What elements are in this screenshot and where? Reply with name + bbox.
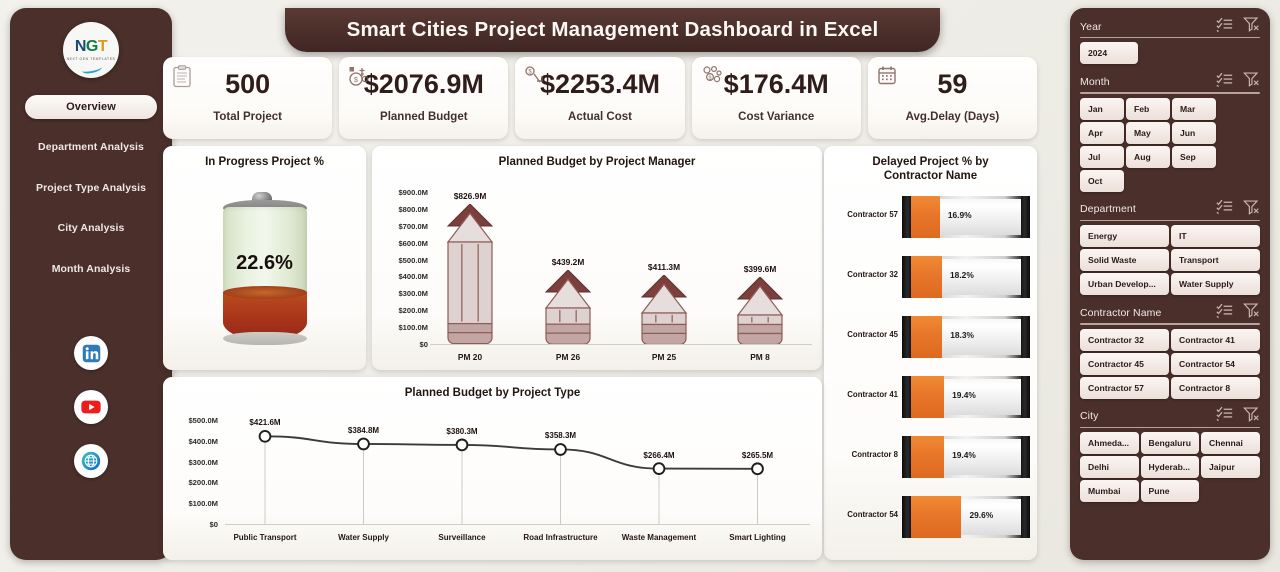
slicer-title: Contractor Name bbox=[1080, 307, 1216, 319]
slicer-divider bbox=[1080, 92, 1260, 93]
slicer-year: Year2024 bbox=[1080, 18, 1260, 64]
x-axis-category: Water Supply bbox=[309, 533, 419, 542]
slicer-divider bbox=[1080, 37, 1260, 38]
bar-right-cap bbox=[1021, 256, 1030, 298]
slicer-divider bbox=[1080, 427, 1260, 428]
bar-right-cap bbox=[1021, 496, 1030, 538]
slicer-items: EnergyITSolid WasteTransportUrban Develo… bbox=[1080, 225, 1260, 295]
variance-icon: $ bbox=[701, 65, 723, 89]
x-axis-category: Waste Management bbox=[604, 533, 714, 542]
logo-n: N bbox=[75, 38, 86, 55]
bar-data-label: 19.4% bbox=[952, 450, 976, 460]
bar-data-label: $411.3M bbox=[624, 262, 704, 272]
kpi-card-actual-cost: $ $2253.4M Actual Cost bbox=[515, 57, 684, 139]
slicer-item[interactable]: Contractor 57 bbox=[1080, 377, 1169, 399]
clear-filter-icon bbox=[1243, 302, 1260, 318]
slicer-contractor-name: Contractor NameContractor 32Contractor 4… bbox=[1080, 304, 1260, 398]
slicer-item[interactable]: Urban Develop... bbox=[1080, 273, 1169, 295]
multi-select-icon[interactable] bbox=[1216, 303, 1233, 323]
sidebar-item-overview[interactable]: Overview bbox=[25, 95, 157, 119]
contractor-bar-row[interactable]: Contractor 819.4% bbox=[824, 430, 1037, 484]
contractor-label: Contractor 54 bbox=[830, 510, 898, 519]
bar-right-cap bbox=[1021, 196, 1030, 238]
x-axis-category: PM 8 bbox=[720, 352, 800, 362]
slicer-divider bbox=[1080, 220, 1260, 221]
contractor-bar-row[interactable]: Contractor 3218.2% bbox=[824, 250, 1037, 304]
slicer-item[interactable]: Sep bbox=[1172, 146, 1216, 168]
kpi-row: 500 Total Project $ $2076.9M Planned Bud… bbox=[163, 57, 1037, 139]
panel-title: Planned Budget by Project Type bbox=[163, 377, 822, 400]
slicer-header: Month bbox=[1080, 73, 1260, 90]
slicer-item[interactable]: Jaipur bbox=[1201, 456, 1260, 478]
bar-left-cap bbox=[902, 496, 911, 538]
contractor-bar-row[interactable]: Contractor 5716.9% bbox=[824, 190, 1037, 244]
x-axis-category: Road Infrastructure bbox=[506, 533, 616, 542]
slicer-city: CityAhmeda...BengaluruChennaiDelhiHydera… bbox=[1080, 408, 1260, 502]
kpi-label: Total Project bbox=[213, 111, 282, 123]
slicer-item[interactable]: Contractor 41 bbox=[1171, 329, 1260, 351]
slicer-item[interactable]: Jul bbox=[1080, 146, 1124, 168]
kpi-label: Avg.Delay (Days) bbox=[906, 111, 1000, 123]
bar-right-cap bbox=[1021, 376, 1030, 418]
planned-budget-by-project-type-panel: Planned Budget by Project Type $500.0M$4… bbox=[163, 377, 822, 560]
dashboard-title-banner: Smart Cities Project Management Dashboar… bbox=[285, 8, 940, 52]
slicer-item[interactable]: IT bbox=[1171, 225, 1260, 247]
slicer-title: Month bbox=[1080, 76, 1216, 88]
panel-title: In Progress Project % bbox=[163, 146, 366, 169]
x-axis-category: Public Transport bbox=[210, 533, 320, 542]
logo-g: G bbox=[86, 38, 98, 55]
multi-select-icon bbox=[1216, 17, 1233, 32]
bar-fill bbox=[911, 436, 944, 478]
sidebar-item-department-analysis[interactable]: Department Analysis bbox=[10, 141, 172, 153]
slicer-item[interactable]: Contractor 45 bbox=[1080, 353, 1169, 375]
bar-data-label: 29.6% bbox=[969, 510, 993, 520]
slicer-department: DepartmentEnergyITSolid WasteTransportUr… bbox=[1080, 201, 1260, 295]
slicer-items: Contractor 32Contractor 41Contractor 45C… bbox=[1080, 329, 1260, 399]
slicer-item[interactable]: Chennai bbox=[1201, 432, 1260, 454]
bar-left-cap bbox=[902, 436, 911, 478]
bar-left-cap bbox=[902, 316, 911, 358]
slicer-item[interactable]: Mumbai bbox=[1080, 480, 1139, 502]
bar-data-label: $826.9M bbox=[430, 191, 510, 201]
gauge-value-label: 22.6% bbox=[219, 252, 311, 275]
bar-data-label: $439.2M bbox=[528, 257, 608, 267]
x-axis-category: PM 20 bbox=[430, 352, 510, 362]
slicer-item[interactable]: Contractor 54 bbox=[1171, 353, 1260, 375]
logo-tagline: NEXT GEN TEMPLATES bbox=[67, 57, 116, 61]
pencil-bar[interactable] bbox=[446, 204, 494, 344]
slicer-items: JanFebMarAprMayJunJulAugSepOct bbox=[1080, 98, 1260, 192]
point-data-label: $380.3M bbox=[417, 427, 507, 436]
clear-filter-icon[interactable] bbox=[1243, 199, 1260, 220]
bar-data-label: 18.2% bbox=[950, 270, 974, 280]
battery-gauge: 22.6% bbox=[219, 192, 311, 347]
contractor-bar-row[interactable]: Contractor 4119.4% bbox=[824, 370, 1037, 424]
kpi-label: Planned Budget bbox=[380, 111, 468, 123]
y-axis-tick: $500.0M bbox=[372, 256, 428, 265]
slicer-item[interactable]: Water Supply bbox=[1171, 273, 1260, 295]
panel-title: Planned Budget by Project Manager bbox=[372, 146, 822, 169]
point-data-label: $265.5M bbox=[713, 451, 803, 460]
slicer-item[interactable]: Ahmeda... bbox=[1080, 432, 1139, 454]
bar-left-cap bbox=[902, 256, 911, 298]
pencil-bar[interactable] bbox=[544, 270, 592, 344]
delayed-project-by-contractor-panel: Delayed Project % by Contractor Name Con… bbox=[824, 146, 1037, 560]
multi-select-icon[interactable] bbox=[1216, 406, 1233, 426]
y-axis-tick: $0 bbox=[372, 340, 428, 349]
slicer-item[interactable]: Bengaluru bbox=[1141, 432, 1200, 454]
slicer-item[interactable]: Contractor 32 bbox=[1080, 329, 1169, 351]
y-axis-tick: $200.0M bbox=[372, 306, 428, 315]
cost-icon: $ bbox=[524, 65, 546, 89]
sidebar-item-city-analysis[interactable]: City Analysis bbox=[10, 222, 172, 234]
multi-select-icon bbox=[1216, 406, 1233, 421]
logo-t: T bbox=[98, 38, 107, 55]
planned-budget-by-pm-panel: Planned Budget by Project Manager $900.0… bbox=[372, 146, 822, 370]
kpi-card-avg-delay: 59 Avg.Delay (Days) bbox=[868, 57, 1037, 139]
left-navigation: NGT NEXT GEN TEMPLATES Overview Departme… bbox=[10, 8, 172, 560]
slicer-item[interactable]: Solid Waste bbox=[1080, 249, 1169, 271]
pencil-bar[interactable] bbox=[640, 275, 688, 344]
slicer-item[interactable]: Transport bbox=[1171, 249, 1260, 271]
kpi-label: Cost Variance bbox=[738, 111, 814, 123]
contractor-label: Contractor 45 bbox=[830, 330, 898, 339]
kpi-card-planned-budget: $ $2076.9M Planned Budget bbox=[339, 57, 508, 139]
clear-filter-icon[interactable] bbox=[1243, 302, 1260, 323]
sidebar-item-month-analysis[interactable]: Month Analysis bbox=[10, 263, 172, 275]
kpi-value: 59 bbox=[937, 71, 967, 98]
slicer-title: City bbox=[1080, 410, 1216, 422]
brand-logo: NGT NEXT GEN TEMPLATES bbox=[63, 22, 119, 78]
y-axis-tick: $600.0M bbox=[372, 239, 428, 248]
multi-select-icon bbox=[1216, 72, 1233, 87]
x-axis-category: PM 26 bbox=[528, 352, 608, 362]
battery-bottom bbox=[223, 332, 307, 345]
x-axis-category: PM 25 bbox=[624, 352, 704, 362]
in-progress-gauge-panel: In Progress Project % 22.6% bbox=[163, 146, 366, 370]
svg-text:$: $ bbox=[708, 76, 711, 82]
bar-data-label: 18.3% bbox=[950, 330, 974, 340]
slicer-title: Year bbox=[1080, 21, 1216, 33]
bar-left-cap bbox=[902, 196, 911, 238]
svg-text:$: $ bbox=[354, 77, 358, 84]
youtube-icon[interactable] bbox=[74, 390, 108, 424]
money-bag-icon: $ bbox=[348, 65, 370, 89]
slicer-item[interactable]: Mar bbox=[1172, 98, 1216, 120]
slicer-item[interactable]: 2024 bbox=[1080, 42, 1138, 64]
slicer-item[interactable]: Aug bbox=[1126, 146, 1170, 168]
multi-select-icon bbox=[1216, 303, 1233, 318]
slicer-header: Year bbox=[1080, 18, 1260, 35]
y-axis-tick: $300.0M bbox=[372, 289, 428, 298]
slicer-divider bbox=[1080, 323, 1260, 324]
slicer-item[interactable]: Contractor 8 bbox=[1171, 377, 1260, 399]
bar-fill bbox=[911, 256, 942, 298]
y-axis-tick: $700.0M bbox=[372, 222, 428, 231]
clear-filter-icon bbox=[1243, 16, 1260, 32]
slicer-item[interactable]: Energy bbox=[1080, 225, 1169, 247]
calendar-icon bbox=[877, 65, 899, 89]
slicer-items: Ahmeda...BengaluruChennaiDelhiHyderab...… bbox=[1080, 432, 1260, 502]
kpi-value: $2076.9M bbox=[364, 71, 484, 98]
contractor-label: Contractor 32 bbox=[830, 270, 898, 279]
website-icon[interactable] bbox=[74, 444, 108, 478]
x-axis-category: Surveillance bbox=[407, 533, 517, 542]
kpi-value: 500 bbox=[225, 71, 270, 98]
multi-select-icon[interactable] bbox=[1216, 17, 1233, 37]
kpi-value: $176.4M bbox=[724, 71, 829, 98]
slicer-item[interactable]: Hyderab... bbox=[1141, 456, 1200, 478]
contractor-label: Contractor 57 bbox=[830, 210, 898, 219]
x-axis-category: Smart Lighting bbox=[703, 533, 813, 542]
dashboard-root: NGT NEXT GEN TEMPLATES Overview Departme… bbox=[0, 0, 1280, 572]
clear-filter-icon bbox=[1243, 71, 1260, 87]
panel-title: Delayed Project % by Contractor Name bbox=[824, 146, 1037, 184]
slicer-item[interactable]: Jun bbox=[1172, 122, 1216, 144]
kpi-card-total-project: 500 Total Project bbox=[163, 57, 332, 139]
sidebar-item-project-type-analysis[interactable]: Project Type Analysis bbox=[10, 182, 172, 194]
bar-fill bbox=[911, 376, 944, 418]
bar-fill bbox=[911, 496, 961, 538]
contractor-bar-row[interactable]: Contractor 5429.6% bbox=[824, 490, 1037, 544]
page-title: Smart Cities Project Management Dashboar… bbox=[347, 18, 879, 42]
bar-fill bbox=[911, 196, 940, 238]
clear-filter-icon[interactable] bbox=[1243, 71, 1260, 92]
multi-select-icon bbox=[1216, 199, 1233, 214]
point-data-label: $358.3M bbox=[516, 431, 606, 440]
slicer-item[interactable]: May bbox=[1126, 122, 1170, 144]
bar-data-label: 16.9% bbox=[948, 210, 972, 220]
line-chart-plot: $500.0M$400.0M$300.0M$200.0M$100.0M$0$42… bbox=[163, 402, 822, 560]
contractor-bar-row[interactable]: Contractor 4518.3% bbox=[824, 310, 1037, 364]
kpi-card-cost-variance: $ $176.4M Cost Variance bbox=[692, 57, 861, 139]
clear-filter-icon[interactable] bbox=[1243, 16, 1260, 37]
logo-letters: NGT bbox=[75, 39, 107, 55]
logo-swoosh-icon bbox=[81, 64, 102, 75]
y-axis-tick: $400.0M bbox=[372, 272, 428, 281]
point-data-label: $266.4M bbox=[614, 451, 704, 460]
slicer-item[interactable]: Jan bbox=[1080, 98, 1124, 120]
contractor-label: Contractor 41 bbox=[830, 390, 898, 399]
clipboard-icon bbox=[172, 65, 194, 89]
y-axis-tick: $800.0M bbox=[372, 205, 428, 214]
bar-left-cap bbox=[902, 376, 911, 418]
pencil-bar[interactable] bbox=[736, 277, 784, 344]
clear-filter-icon[interactable] bbox=[1243, 406, 1260, 427]
contractor-label: Contractor 8 bbox=[830, 450, 898, 459]
clear-filter-icon bbox=[1243, 406, 1260, 422]
slicer-item[interactable]: Pune bbox=[1141, 480, 1200, 502]
filter-slicer-panel: Year2024MonthJanFebMarAprMayJunJulAugSep… bbox=[1070, 8, 1270, 560]
y-axis-tick: $900.0M bbox=[372, 188, 428, 197]
slicer-title: Department bbox=[1080, 203, 1216, 215]
x-axis-line bbox=[430, 344, 812, 345]
slicer-items: 2024 bbox=[1080, 42, 1260, 64]
slicer-header: Contractor Name bbox=[1080, 304, 1260, 321]
slicer-item[interactable]: Delhi bbox=[1080, 456, 1139, 478]
contractor-bars-plot: Contractor 5716.9%Contractor 3218.2%Cont… bbox=[824, 190, 1037, 560]
slicer-item[interactable]: Apr bbox=[1080, 122, 1124, 144]
slicer-item[interactable]: Oct bbox=[1080, 170, 1124, 192]
slicer-month: MonthJanFebMarAprMayJunJulAugSepOct bbox=[1080, 73, 1260, 191]
slicer-header: City bbox=[1080, 408, 1260, 425]
kpi-label: Actual Cost bbox=[568, 111, 632, 123]
bar-data-label: $399.6M bbox=[720, 264, 800, 274]
clear-filter-icon bbox=[1243, 199, 1260, 215]
bar-data-label: 19.4% bbox=[952, 390, 976, 400]
slicer-item[interactable]: Feb bbox=[1126, 98, 1170, 120]
multi-select-icon[interactable] bbox=[1216, 199, 1233, 219]
point-data-label: $384.8M bbox=[319, 426, 409, 435]
point-data-label: $421.6M bbox=[220, 418, 310, 427]
linkedin-icon[interactable] bbox=[74, 336, 108, 370]
multi-select-icon[interactable] bbox=[1216, 72, 1233, 92]
bar-fill bbox=[911, 316, 942, 358]
bar-right-cap bbox=[1021, 436, 1030, 478]
slicer-header: Department bbox=[1080, 201, 1260, 218]
y-axis-tick: $100.0M bbox=[372, 323, 428, 332]
pencil-chart-plot: $900.0M$800.0M$700.0M$600.0M$500.0M$400.… bbox=[372, 172, 822, 370]
bar-right-cap bbox=[1021, 316, 1030, 358]
kpi-value: $2253.4M bbox=[540, 71, 660, 98]
